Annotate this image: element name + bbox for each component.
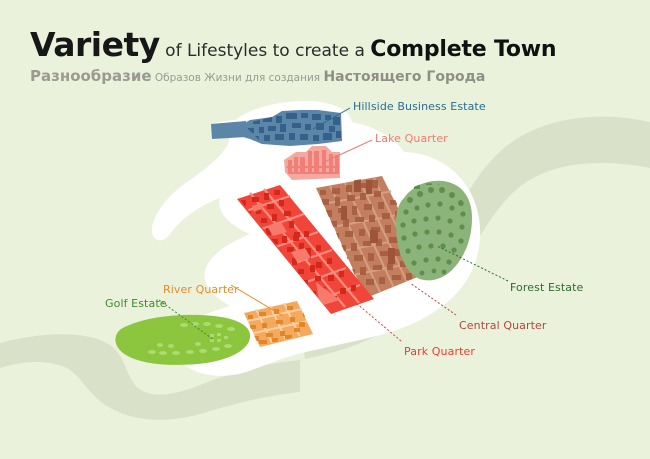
title-ru-phrase: Образов Жизни для создания	[152, 72, 324, 84]
title-phrase-lifestyles: of Lifestyles to create a	[160, 41, 371, 61]
map-label-lake-quarter[interactable]: Lake Quarter	[375, 132, 448, 145]
title-word-variety: Variety	[30, 25, 160, 64]
map-label-forest-estate[interactable]: Forest Estate	[510, 281, 583, 294]
map-label-hillside-business-estate[interactable]: Hillside Business Estate	[353, 100, 486, 113]
map-label-central-quarter[interactable]: Central Quarter	[459, 319, 547, 332]
title-ru-word-complete-town: Настоящего Города	[323, 69, 485, 85]
map-label-park-quarter[interactable]: Park Quarter	[404, 345, 475, 358]
title-english: Variety of Lifestyles to create a Comple…	[30, 28, 630, 61]
title-ru-word-variety: Разнообразие	[30, 67, 152, 85]
title-russian: Разнообразие Образов Жизни для создания …	[30, 68, 630, 84]
page-title: Variety of Lifestyles to create a Comple…	[30, 28, 630, 84]
map-label-river-quarter[interactable]: River Quarter	[163, 283, 239, 296]
town-plan-infographic: Variety of Lifestyles to create a Comple…	[0, 0, 650, 459]
title-word-complete-town: Complete Town	[370, 37, 556, 62]
map-label-golf-estate[interactable]: Golf Estate	[105, 297, 167, 310]
